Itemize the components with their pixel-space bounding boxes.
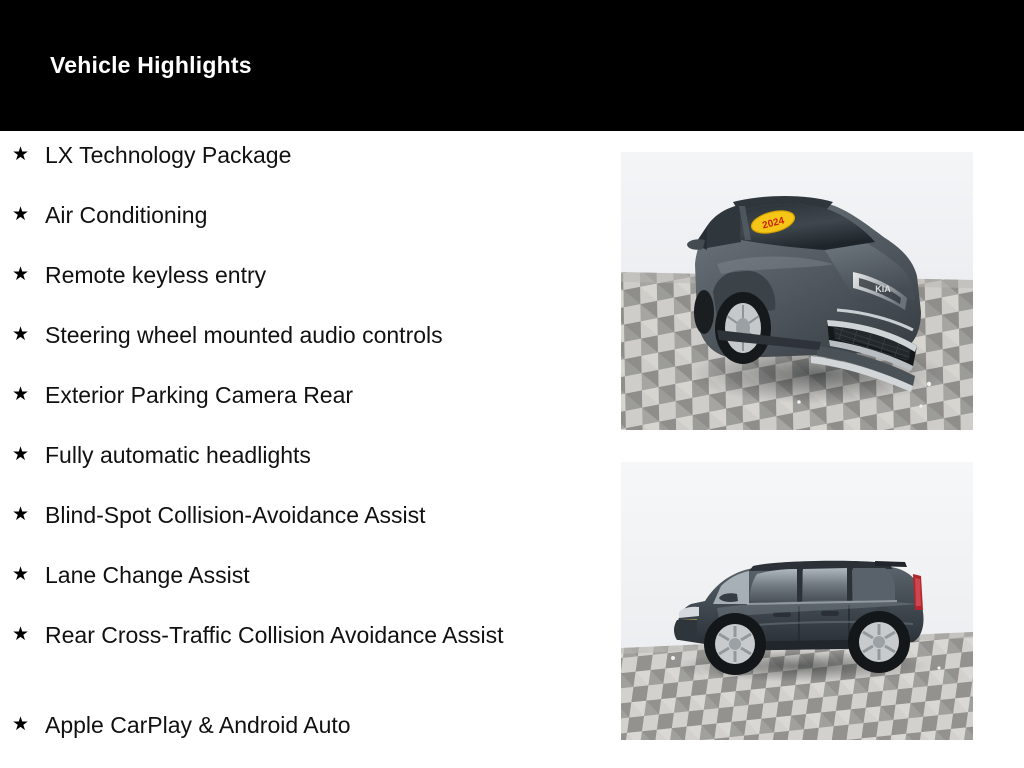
- list-item-label: Fully automatic headlights: [45, 431, 311, 470]
- list-item: ★ Blind-Spot Collision-Avoidance Assist: [0, 491, 600, 551]
- list-item: ★ Lane Change Assist: [0, 551, 600, 611]
- star-bullet-icon: ★: [12, 205, 29, 224]
- side-profile-illustration: [621, 462, 973, 740]
- front-three-quarter-illustration: 2024 KIA: [621, 152, 973, 430]
- page-title: Vehicle Highlights: [50, 51, 252, 79]
- header-bar: Vehicle Highlights: [0, 0, 1024, 131]
- list-item-label: Steering wheel mounted audio controls: [45, 311, 443, 350]
- star-bullet-icon: ★: [12, 385, 29, 404]
- list-item: ★ Remote keyless entry: [0, 251, 600, 311]
- rear-wheel: [848, 611, 910, 673]
- star-bullet-icon: ★: [12, 445, 29, 464]
- star-bullet-icon: ★: [12, 265, 29, 284]
- star-bullet-icon: ★: [12, 325, 29, 344]
- list-item: ★ Apple CarPlay & Android Auto: [0, 701, 600, 761]
- star-bullet-icon: ★: [12, 625, 29, 644]
- list-item-label: LX Technology Package: [45, 131, 291, 170]
- list-item: ★ Exterior Parking Camera Rear: [0, 371, 600, 431]
- list-item: ★ Fully automatic headlights: [0, 431, 600, 491]
- vehicle-photo-driver-side-profile[interactable]: [621, 462, 973, 740]
- list-item-label: Apple CarPlay & Android Auto: [45, 701, 351, 740]
- list-item-label: Lane Change Assist: [45, 551, 250, 590]
- list-item-label: Air Conditioning: [45, 191, 207, 230]
- vehicle-highlights-page: Vehicle Highlights ★ LX Technology Packa…: [0, 0, 1024, 768]
- list-item-label: Rear Cross-Traffic Collision Avoidance A…: [45, 611, 503, 650]
- list-item: ★ Steering wheel mounted audio controls: [0, 311, 600, 371]
- star-bullet-icon: ★: [12, 145, 29, 164]
- front-wheel: [704, 613, 766, 675]
- list-item: ★ Rear Cross-Traffic Collision Avoidance…: [0, 611, 600, 701]
- list-item: ★ Air Conditioning: [0, 191, 600, 251]
- star-bullet-icon: ★: [12, 505, 29, 524]
- front-wheel: [715, 292, 771, 364]
- vehicle-photo-front-three-quarter[interactable]: 2024 KIA: [621, 152, 973, 430]
- list-item-label: Blind-Spot Collision-Avoidance Assist: [45, 491, 426, 530]
- star-bullet-icon: ★: [12, 715, 29, 734]
- list-item: ★ LX Technology Package: [0, 131, 600, 191]
- list-item-label: Exterior Parking Camera Rear: [45, 371, 353, 410]
- kia-badge: KIA: [875, 284, 891, 294]
- list-item-label: Remote keyless entry: [45, 251, 266, 290]
- star-bullet-icon: ★: [12, 565, 29, 584]
- vehicle-highlights-list: ★ LX Technology Package ★ Air Conditioni…: [0, 131, 600, 761]
